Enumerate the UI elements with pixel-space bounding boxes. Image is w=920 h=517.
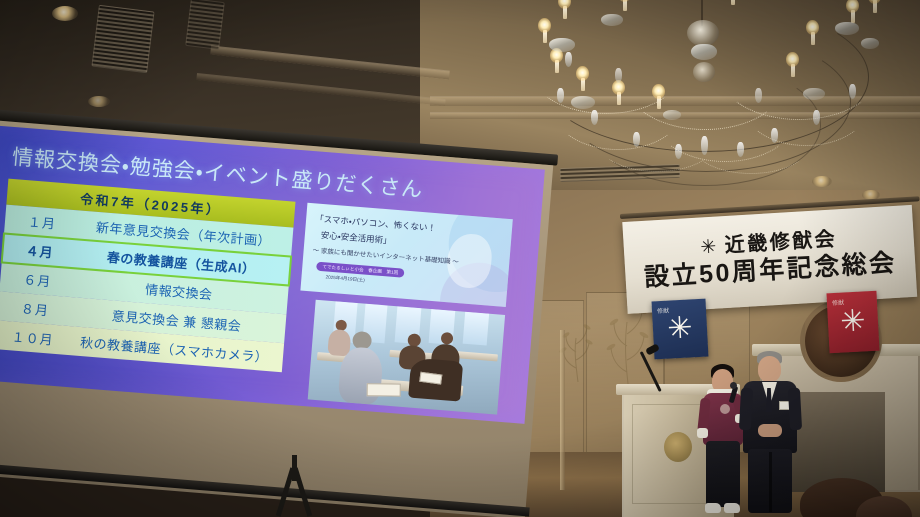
row-month: １月 <box>4 210 79 235</box>
flag-star-icon: ✳ <box>667 313 694 344</box>
recessed-downlight <box>88 96 110 107</box>
speaker-cuff-left <box>697 428 708 438</box>
speaker-legs <box>706 441 740 507</box>
microphone-capsule <box>730 382 737 389</box>
projection-screen: 情報交換会・勉強会・イベント盛りだくさん 令和7年（2025年） １月 新年意見… <box>0 108 558 517</box>
speaker-arm-left <box>739 388 753 431</box>
schedule-table: 令和7年（2025年） １月 新年意見交換会（年次計画） ４月 春の教養講座（生… <box>0 179 296 373</box>
row-month: ４月 <box>2 238 77 263</box>
flag-star-icon: ✳ <box>840 306 867 337</box>
sweater-emblem <box>720 404 730 414</box>
banner-line-1-text: 近畿修猷会 <box>724 229 837 256</box>
presentation-scene: ✳ 近畿修猷会 設立50周年記念総会 ✳ 修猷 ✳ 修猷 情報交換会・勉強会・イ… <box>0 0 920 517</box>
star-icon: ✳ <box>700 237 720 257</box>
speaker-shoe-left <box>705 503 721 513</box>
row-month: ６月 <box>0 267 75 292</box>
row-month: ８月 <box>0 296 73 321</box>
flag-red: ✳ 修猷 <box>826 291 879 354</box>
flag-mark: 修猷 <box>832 297 844 307</box>
flag-mark: 修猷 <box>657 306 669 316</box>
speaker-head <box>758 356 781 382</box>
card-date: 2025年4月19日(土) <box>325 274 365 283</box>
fireplace-opening <box>790 392 885 492</box>
projected-slide: 情報交換会・勉強会・イベント盛りだくさん 令和7年（2025年） １月 新年意見… <box>0 125 545 424</box>
speaker-shoe-right <box>724 503 740 513</box>
speaker-clasped-hands <box>758 424 782 437</box>
wall-post <box>560 330 565 490</box>
seminar-photo <box>308 300 505 415</box>
screen-tripod-post <box>292 455 297 481</box>
row-month: １０月 <box>0 325 70 350</box>
ceiling-air-vent <box>91 5 154 73</box>
speaker-arm-right <box>788 388 802 431</box>
ceiling-air-vent <box>185 0 225 50</box>
banner-line-2-text: 設立50周年記念総会 <box>644 251 898 291</box>
recessed-downlight <box>52 6 78 21</box>
crystal-chandelier <box>505 0 920 207</box>
trouser-gap <box>769 452 772 512</box>
lectern-emblem <box>664 432 692 462</box>
flag-blue: ✳ 修猷 <box>652 299 709 360</box>
seminar-poster-card: 「スマホ・パソコン、怖くない！ 安心・安全活用術」 〜 家族にも聞かせたいインタ… <box>300 203 512 307</box>
card-line-2: 安心・安全活用術」 <box>320 229 392 247</box>
